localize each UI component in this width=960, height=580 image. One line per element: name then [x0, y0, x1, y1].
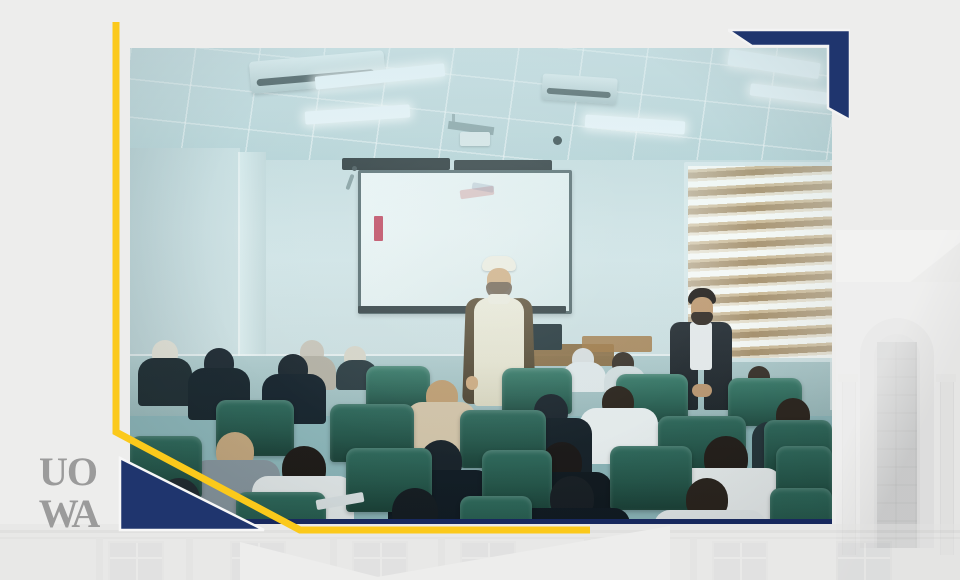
- facade-pilaster: [96, 538, 103, 580]
- facade-pilaster: [186, 538, 193, 580]
- logo-line-2: WA: [26, 494, 110, 534]
- logo-line-1: UO: [26, 452, 110, 492]
- white-diagonal-wedge: [240, 430, 670, 580]
- facade-pilaster: [690, 538, 697, 580]
- man-hands: [692, 384, 712, 397]
- board-top-rail: [342, 158, 450, 170]
- facade-window: [836, 541, 892, 580]
- whiteboard-red-note: [374, 216, 383, 241]
- suit-shirt: [690, 322, 712, 370]
- cleric-collar: [488, 294, 510, 304]
- uowa-logo[interactable]: UO WA: [26, 452, 110, 530]
- navy-right-triangle: [118, 456, 266, 532]
- banner-stage: UO WA: [0, 0, 960, 580]
- audience-body: [138, 358, 192, 406]
- blue-corner-bracket: [728, 28, 850, 120]
- cleric-hand-left: [466, 376, 478, 390]
- board-hook-icon: [352, 166, 357, 171]
- dome-camera-icon: [553, 136, 562, 145]
- ceiling-ac-unit: [541, 73, 618, 104]
- facade-window: [712, 541, 768, 580]
- ceiling-projector: [460, 132, 490, 146]
- front-desk: [582, 336, 652, 352]
- facade-window: [108, 541, 164, 580]
